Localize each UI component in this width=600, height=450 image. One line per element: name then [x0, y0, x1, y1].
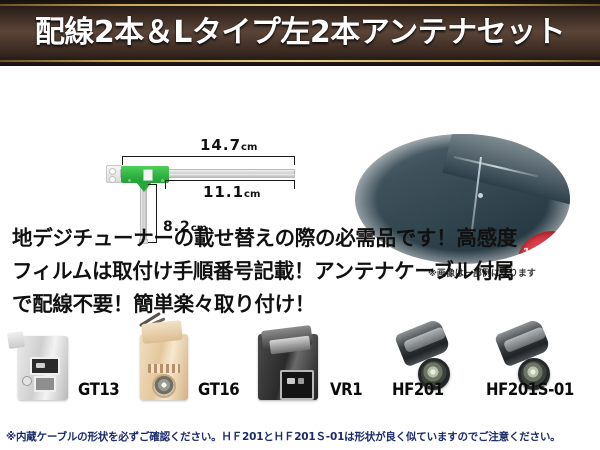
- vr1-face: [280, 370, 314, 400]
- connector-label-gt13: GT13: [78, 380, 119, 400]
- description-line-1: 地デジチューナーの載せ替えの際の必需品です！高感度: [12, 222, 590, 255]
- antenna-node-icon: [478, 193, 483, 198]
- gt13-pin-icon: [22, 376, 32, 386]
- connector-label-gt16: GT16: [198, 380, 239, 400]
- header-banner: 配線2本＆Lタイプ左2本アンテナセット: [0, 0, 600, 66]
- product-image: 配線2本＆Lタイプ左2本アンテナセット 14.7cm: [0, 0, 600, 450]
- gt13-connector-photo: [18, 336, 68, 400]
- vr1-connector-photo: [258, 334, 318, 400]
- description-line-2: フィルムは取付け手順番号記載！アンテナケーブル付属: [12, 255, 590, 288]
- gt13-window: [30, 357, 60, 375]
- gt13-port: [34, 376, 56, 392]
- gt16-jack-icon: [152, 374, 176, 398]
- description-line-3: で配線不要！簡単楽々取り付け！: [12, 288, 590, 321]
- gt16-slots: [148, 364, 180, 373]
- connector-label-hf201s01: HF201S-01: [486, 380, 574, 400]
- dimension-inner-width-value: 11.1: [203, 183, 244, 201]
- connector-strip: GT13 GT16 VR1 HF201 HF201S-01: [0, 330, 600, 422]
- gt13-latch: [7, 331, 25, 349]
- film-hole-icon: [109, 168, 116, 175]
- connector-label-hf201: HF201: [392, 380, 444, 400]
- film-dot-icon: [128, 179, 131, 182]
- description-block: 地デジチューナーの載せ替えの際の必需品です！高感度 フィルムは取付け手順番号記載…: [12, 222, 590, 321]
- diagram-area: 14.7cm 11.1cm 8.2cm: [0, 66, 600, 216]
- film-chip-icon: [143, 169, 153, 181]
- banner-title: 配線2本＆Lタイプ左2本アンテナセット: [0, 11, 600, 55]
- gt16-connector-photo: [140, 334, 188, 400]
- film-hole-icon: [109, 176, 116, 183]
- gt16-latch-arm: [141, 320, 183, 344]
- dimension-total-width-unit: cm: [241, 142, 257, 153]
- connector-label-vr1: VR1: [330, 380, 362, 400]
- dimension-inner-width-unit: cm: [244, 189, 260, 200]
- footer-caution-note: ※内蔵ケーブルの形状を必ずご確認ください。ＨＦ201とＨＦ201Ｓ-01は形状が…: [6, 429, 598, 444]
- glass-edge: [442, 134, 570, 219]
- dimension-total-width-value: 14.7: [200, 136, 241, 154]
- film-dot-icon: [161, 179, 164, 182]
